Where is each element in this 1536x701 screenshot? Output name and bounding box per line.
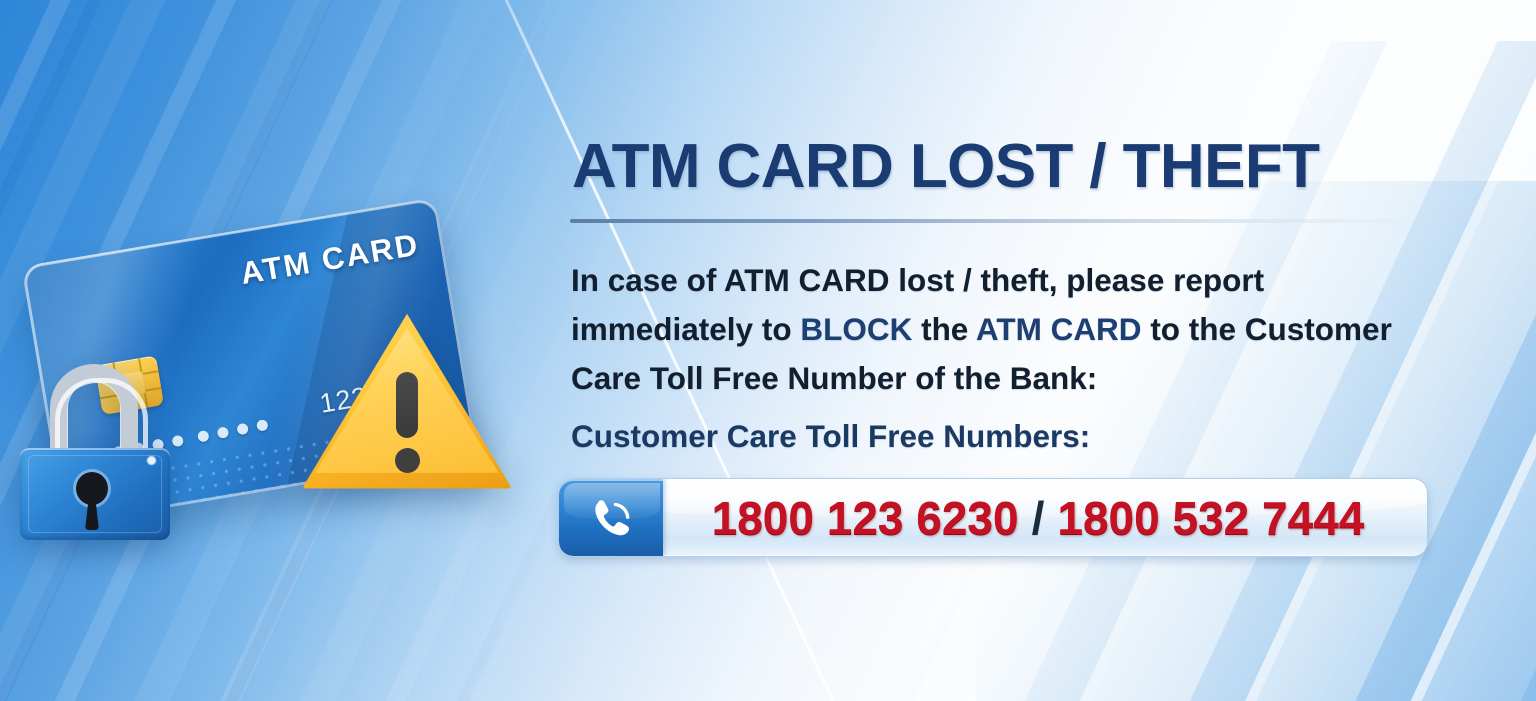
warning-triangle-shape bbox=[302, 310, 512, 496]
banner-content: ATM CARD LOST / THEFT In case of ATM CAR… bbox=[556, 0, 1456, 701]
warning-triangle-icon bbox=[302, 310, 512, 496]
instruction-highlight-atm-card: ATM CARD bbox=[976, 311, 1142, 347]
atm-card-lost-theft-banner: ATM CARD 1234 bbox=[0, 0, 1536, 701]
card-label: ATM CARD bbox=[238, 227, 422, 292]
toll-free-number-1[interactable]: 1800 123 6230 bbox=[712, 491, 1019, 545]
emv-chip-icon bbox=[95, 355, 164, 415]
instruction-text: In case of ATM CARD lost / theft, please… bbox=[571, 256, 1443, 403]
toll-free-numbers: 1800 123 6230 / 1800 532 7444 bbox=[663, 479, 1427, 556]
phone-icon-block bbox=[559, 479, 663, 556]
card-border bbox=[21, 197, 478, 525]
padlock-gloss bbox=[147, 456, 156, 465]
instruction-highlight-block: BLOCK bbox=[800, 311, 912, 347]
number-separator: / bbox=[1032, 491, 1045, 545]
exclamation-bar bbox=[396, 372, 418, 438]
toll-free-number-bar[interactable]: 1800 123 6230 / 1800 532 7444 bbox=[558, 478, 1428, 557]
instruction-segment-2: the bbox=[912, 311, 976, 347]
atm-card-graphic: ATM CARD 1234 bbox=[21, 197, 478, 525]
padlock-body bbox=[20, 448, 170, 540]
padlock-shackle bbox=[50, 364, 138, 460]
warning-triangle-inner bbox=[315, 325, 499, 479]
title-divider bbox=[570, 219, 1436, 223]
card-number-dots bbox=[111, 388, 410, 462]
card-shadow-right bbox=[267, 197, 479, 525]
page-title: ATM CARD LOST / THEFT bbox=[572, 131, 1319, 202]
phone-handset-icon bbox=[585, 492, 637, 544]
padlock-keyhole bbox=[76, 472, 108, 505]
card-digits: 1234 bbox=[318, 379, 386, 420]
card-microdot-pattern bbox=[166, 424, 410, 509]
padlock-icon bbox=[20, 364, 170, 540]
security-illustration: ATM CARD 1234 bbox=[0, 180, 560, 600]
toll-free-subheading: Customer Care Toll Free Numbers: bbox=[571, 418, 1090, 455]
toll-free-number-2[interactable]: 1800 532 7444 bbox=[1057, 491, 1364, 545]
card-sheen-mid bbox=[237, 197, 476, 525]
exclamation-dot bbox=[395, 448, 420, 473]
card-sheen-left bbox=[21, 197, 213, 525]
